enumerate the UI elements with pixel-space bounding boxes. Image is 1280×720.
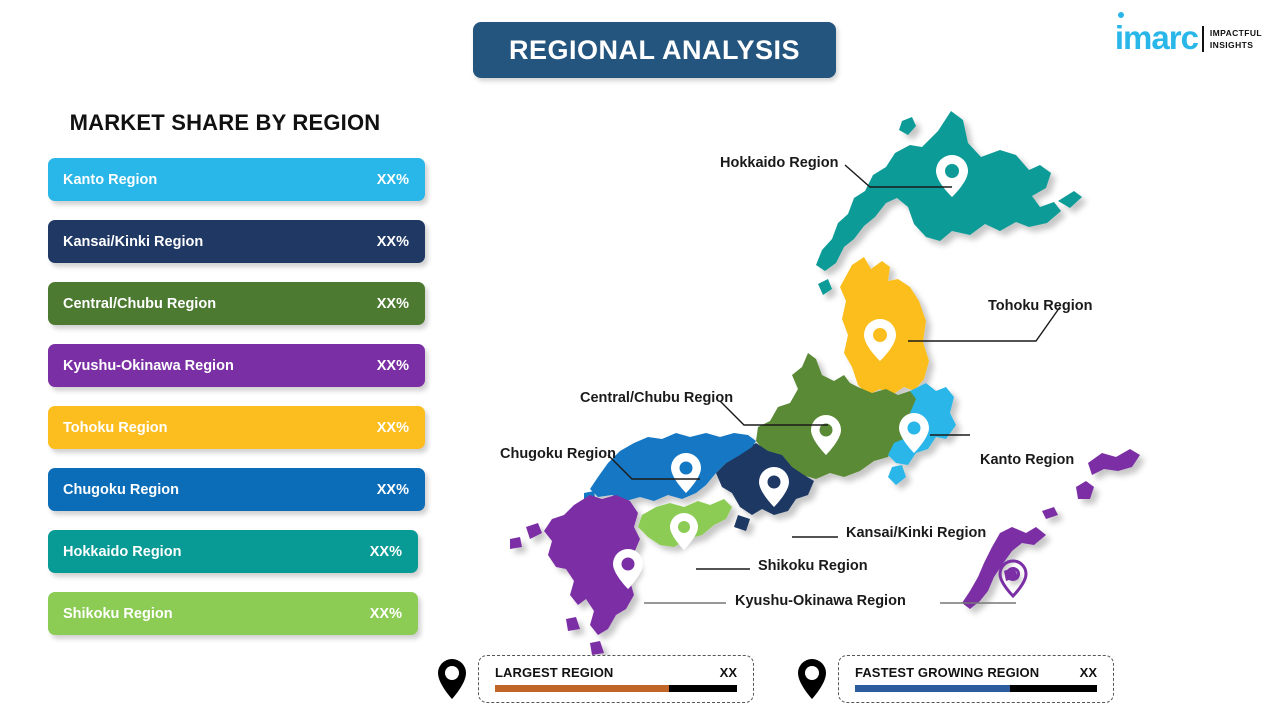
region-share-row[interactable]: Kansai/Kinki RegionXX% xyxy=(48,220,425,263)
badge-progress-fill xyxy=(495,685,669,692)
map-label-shikoku: Shikoku Region xyxy=(758,558,868,574)
logo-tagline: IMPACTFUL INSIGHTS xyxy=(1210,28,1262,54)
map-label-hokkaido: Hokkaido Region xyxy=(720,155,838,171)
badge-header: LARGEST REGIONXX xyxy=(495,665,737,680)
footer-badge-largest-region[interactable]: LARGEST REGIONXX xyxy=(436,655,754,703)
region-share-label: Kansai/Kinki Region xyxy=(63,234,203,250)
map-label-tohoku: Tohoku Region xyxy=(988,298,1092,314)
region-share-row[interactable]: Kanto RegionXX% xyxy=(48,158,425,201)
region-share-value: XX% xyxy=(377,358,409,374)
map-pin-okinawa[interactable] xyxy=(1000,561,1026,596)
badge-label: FASTEST GROWING REGION xyxy=(855,665,1039,680)
logo-wordmark: imarc xyxy=(1115,21,1198,54)
region-share-label: Shikoku Region xyxy=(63,606,173,622)
badge-box: FASTEST GROWING REGIONXX xyxy=(838,655,1114,703)
page-title: REGIONAL ANALYSIS xyxy=(509,35,800,66)
region-share-value: XX% xyxy=(377,172,409,188)
badge-progress-fill xyxy=(855,685,1010,692)
region-share-row[interactable]: Tohoku RegionXX% xyxy=(48,406,425,449)
region-share-value: XX% xyxy=(377,420,409,436)
badge-label: LARGEST REGION xyxy=(495,665,613,680)
imarc-logo: imarc IMPACTFUL INSIGHTS xyxy=(1115,18,1262,54)
logo-wordmark-text: imarc xyxy=(1115,19,1198,56)
market-share-panel: MARKET SHARE BY REGION Kanto RegionXX%Ka… xyxy=(0,110,450,654)
region-share-row[interactable]: Kyushu-Okinawa RegionXX% xyxy=(48,344,425,387)
region-share-value: XX% xyxy=(370,606,402,622)
region-share-row[interactable]: Chugoku RegionXX% xyxy=(48,468,425,511)
japan-map-area: Hokkaido RegionTohoku RegionCentral/Chub… xyxy=(440,95,1280,655)
market-share-heading: MARKET SHARE BY REGION xyxy=(20,110,430,136)
map-label-chugoku: Chugoku Region xyxy=(500,446,616,462)
location-pin-icon xyxy=(436,658,468,700)
region-share-value: XX% xyxy=(377,234,409,250)
region-share-list: Kanto RegionXX%Kansai/Kinki RegionXX%Cen… xyxy=(0,158,450,635)
page-title-banner: REGIONAL ANALYSIS xyxy=(473,22,836,78)
region-share-row[interactable]: Shikoku RegionXX% xyxy=(48,592,418,635)
logo-tagline-line1: IMPACTFUL xyxy=(1210,28,1262,39)
badge-header: FASTEST GROWING REGIONXX xyxy=(855,665,1097,680)
footer-stats: LARGEST REGIONXXFASTEST GROWING REGIONXX xyxy=(0,655,1280,715)
map-label-central-chubu: Central/Chubu Region xyxy=(580,390,733,406)
map-label-kyushu-okinawa: Kyushu-Okinawa Region xyxy=(735,593,906,609)
region-share-label: Central/Chubu Region xyxy=(63,296,216,312)
region-share-label: Kanto Region xyxy=(63,172,157,188)
map-label-kansai-kinki: Kansai/Kinki Region xyxy=(846,525,986,541)
logo-tagline-line2: INSIGHTS xyxy=(1210,40,1262,51)
region-share-row[interactable]: Hokkaido RegionXX% xyxy=(48,530,418,573)
badge-value: XX xyxy=(1070,665,1097,680)
region-share-label: Kyushu-Okinawa Region xyxy=(63,358,234,374)
badge-progress-track xyxy=(855,685,1097,692)
badge-value: XX xyxy=(710,665,737,680)
region-share-label: Hokkaido Region xyxy=(63,544,181,560)
region-share-row[interactable]: Central/Chubu RegionXX% xyxy=(48,282,425,325)
footer-badge-fastest-growing-region[interactable]: FASTEST GROWING REGIONXX xyxy=(796,655,1114,703)
logo-divider xyxy=(1202,26,1204,52)
location-pin-icon xyxy=(796,658,828,700)
region-share-value: XX% xyxy=(377,296,409,312)
badge-box: LARGEST REGIONXX xyxy=(478,655,754,703)
region-share-value: XX% xyxy=(377,482,409,498)
logo-dot-icon xyxy=(1118,12,1124,18)
region-share-label: Tohoku Region xyxy=(63,420,167,436)
badge-progress-track xyxy=(495,685,737,692)
map-label-kanto: Kanto Region xyxy=(980,452,1074,468)
region-share-label: Chugoku Region xyxy=(63,482,179,498)
region-share-value: XX% xyxy=(370,544,402,560)
